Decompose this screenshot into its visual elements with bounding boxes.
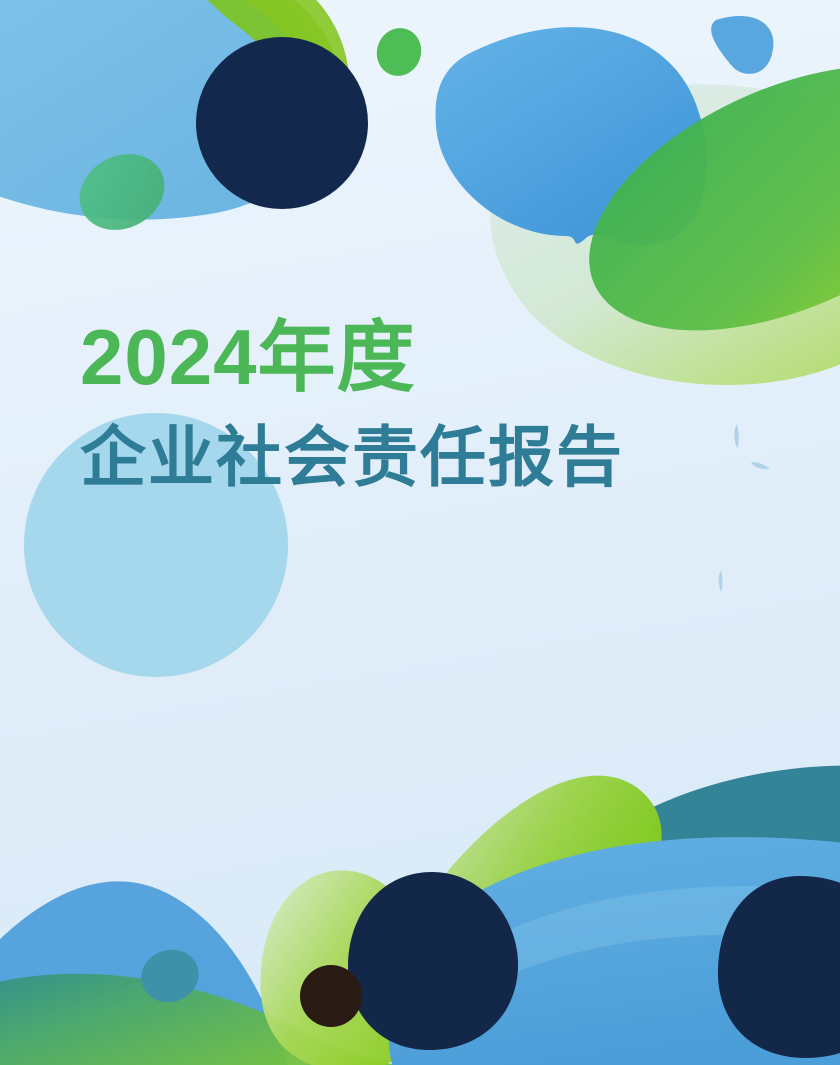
decorative-artwork — [0, 0, 840, 1065]
dark-brown-circle — [300, 965, 362, 1027]
navy-circle — [196, 37, 368, 209]
cover-title-year: 2024年度 — [80, 318, 840, 396]
cover-title-main: 企业社会责任报告 — [80, 424, 840, 490]
wisp-mark-3 — [719, 570, 723, 592]
report-cover-page: 2024年度 企业社会责任报告 — [0, 0, 840, 1065]
cover-title-block: 2024年度 企业社会责任报告 — [0, 318, 840, 490]
mint-ellipse-tiny — [371, 22, 428, 81]
blue-teardrop — [711, 16, 773, 74]
